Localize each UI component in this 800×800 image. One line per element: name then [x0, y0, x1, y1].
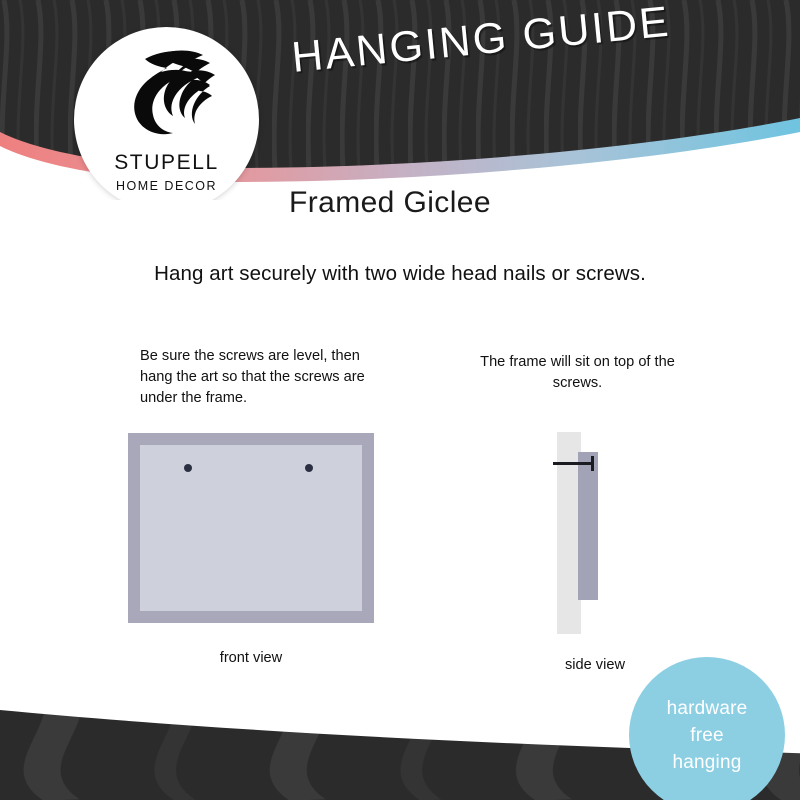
hanging-guide-page: STUPELL HOME DECOR HANGING GUIDE Framed …	[0, 0, 800, 800]
hardware-free-badge: hardware free hanging	[629, 657, 785, 800]
badge-line-2: free	[690, 722, 724, 749]
brand-logo-badge: STUPELL HOME DECOR	[74, 27, 259, 200]
side-view-frame	[578, 452, 598, 600]
side-view-screw-shaft	[553, 462, 593, 465]
front-view-diagram	[128, 433, 374, 623]
screw-dot-right	[305, 464, 313, 472]
side-view-diagram	[545, 430, 645, 636]
header-band: STUPELL HOME DECOR HANGING GUIDE	[0, 0, 800, 200]
logo-tagline: HOME DECOR	[74, 179, 259, 193]
front-view-caption: Be sure the screws are level, then hang …	[140, 346, 380, 409]
front-view-label: front view	[128, 650, 374, 666]
front-view-frame-inner	[140, 445, 362, 611]
badge-line-3: hanging	[672, 749, 741, 776]
product-type-title: Framed Giclee	[289, 186, 491, 220]
side-view-screw-head	[591, 456, 594, 471]
stupell-swoosh-icon	[115, 45, 219, 141]
badge-line-1: hardware	[667, 695, 748, 722]
main-instruction-text: Hang art securely with two wide head nai…	[0, 262, 800, 286]
logo-brand-name: STUPELL	[74, 151, 259, 175]
side-view-caption: The frame will sit on top of the screws.	[470, 352, 685, 394]
screw-dot-left	[184, 464, 192, 472]
